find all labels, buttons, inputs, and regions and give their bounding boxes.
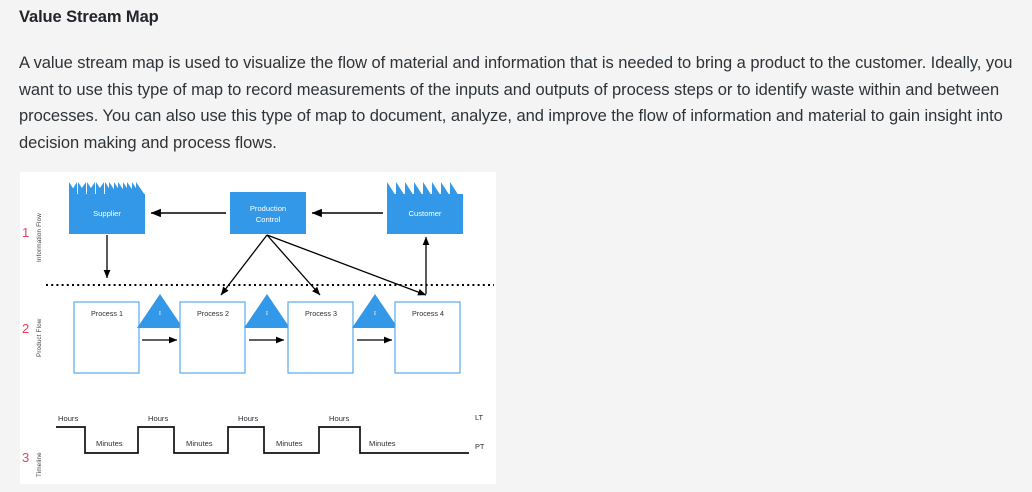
inventory-label-2: I <box>266 310 268 317</box>
customer-node[interactable]: Customer <box>387 182 463 234</box>
supplier-node[interactable]: Supplier <box>69 182 145 234</box>
production-control-line2: Control <box>256 215 281 224</box>
process-label-2: Process 2 <box>197 309 229 318</box>
timeline-upper-label-1: Hours <box>58 414 78 423</box>
process-time-label: PT <box>475 442 485 451</box>
process-label-4: Process 4 <box>412 309 444 318</box>
band-number-1: 1 <box>22 225 29 240</box>
band-number-3: 3 <box>22 450 29 465</box>
process-node-4[interactable]: Process 4 <box>395 302 460 373</box>
process-node-2[interactable]: Process 2 <box>180 302 245 373</box>
lead-time-label: LT <box>475 413 484 422</box>
band-number-2: 2 <box>22 321 29 336</box>
timeline-upper-label-4: Hours <box>329 414 349 423</box>
inventory-triangle-1[interactable]: I <box>137 294 183 328</box>
process-label-3: Process 3 <box>305 309 337 318</box>
inventory-triangle-2[interactable]: I <box>244 294 290 328</box>
inventory-triangle-3[interactable]: I <box>352 294 398 328</box>
supplier-label: Supplier <box>93 209 121 218</box>
page-title: Value Stream Map <box>19 8 159 27</box>
value-stream-map-page: Value Stream Map A value stream map is u… <box>0 0 1032 492</box>
band-label-information-flow: Information Flow <box>36 213 43 262</box>
band-label-product-flow: Product Flow <box>36 318 43 357</box>
inventory-label-1: I <box>159 310 161 317</box>
customer-label: Customer <box>409 209 442 218</box>
inventory-label-3: I <box>374 310 376 317</box>
timeline-lower-label-2: Minutes <box>186 439 213 448</box>
intro-paragraph: A value stream map is used to visualize … <box>19 50 1021 156</box>
timeline-upper-label-3: Hours <box>238 414 258 423</box>
process-label-1: Process 1 <box>91 309 123 318</box>
timeline-lower-label-4: Minutes <box>369 439 396 448</box>
timeline-upper-label-2: Hours <box>148 414 168 423</box>
band-label-timeline: Timeline <box>36 452 43 477</box>
value-stream-map-diagram: 1 2 3 Information Flow Product Flow Time… <box>20 172 496 484</box>
production-control-line1: Production <box>250 204 286 213</box>
production-control-node[interactable]: Production Control <box>230 192 306 234</box>
process-node-1[interactable]: Process 1 <box>74 302 139 373</box>
timeline-lower-label-3: Minutes <box>276 439 303 448</box>
timeline-lower-label-1: Minutes <box>96 439 123 448</box>
process-node-3[interactable]: Process 3 <box>288 302 353 373</box>
